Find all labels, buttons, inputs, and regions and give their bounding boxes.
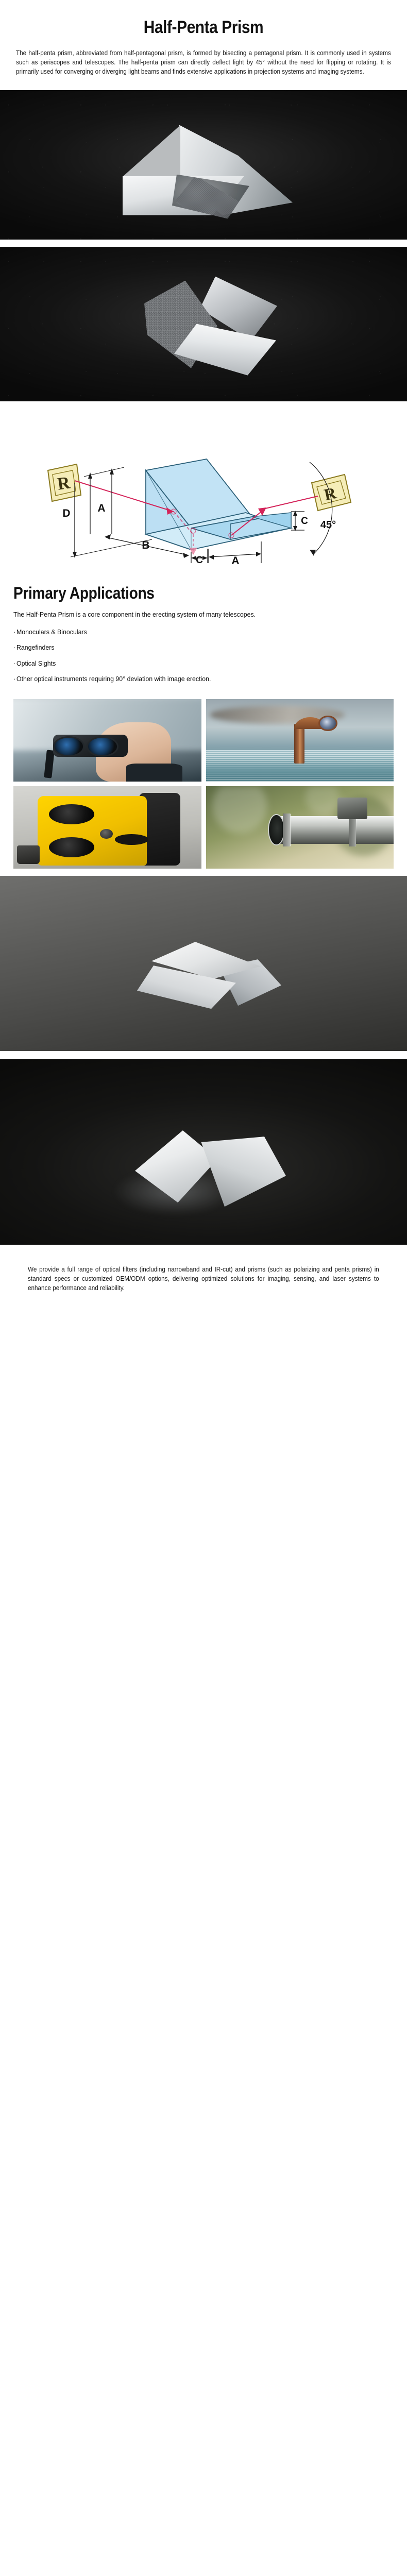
list-item-label: Other optical instruments requiring 90° … (16, 675, 211, 683)
bullet-marker: · (13, 659, 15, 667)
dimension-label-c-bottom: C (196, 555, 203, 564)
list-item: ·Optical Sights (13, 659, 394, 668)
prism-render-side (144, 277, 276, 375)
rangefinder-badge (115, 834, 149, 845)
half-penta-prism-photo-angled (0, 90, 407, 240)
binoculars-photo (13, 699, 201, 782)
list-item-label: Optical Sights (16, 659, 56, 667)
bullet-marker: · (13, 628, 15, 636)
spacer (0, 240, 407, 247)
spacer (0, 566, 407, 584)
page-title: Half-Penta Prism (24, 0, 382, 38)
spacer (0, 690, 407, 699)
list-item-label: Monoculars & Binoculars (16, 628, 87, 636)
list-item: ·Monoculars & Binoculars (13, 628, 394, 636)
image-card: R (312, 474, 351, 511)
prism-photo-grey-backdrop (0, 876, 407, 1051)
spacer (0, 1245, 407, 1265)
bullet-marker: · (13, 675, 15, 683)
spacer (0, 869, 407, 876)
bullet-marker: · (13, 643, 15, 651)
spacer (0, 401, 407, 418)
rangefinder-lens-upper (49, 804, 94, 824)
technical-diagram: R R (0, 418, 407, 566)
dimension-label-c-side: C (301, 516, 308, 527)
object-card: R (48, 464, 81, 501)
dimension-a-vertical (84, 467, 124, 534)
sleeve (126, 764, 182, 782)
scope-mount (337, 798, 367, 819)
half-penta-prism-photo-side (0, 247, 407, 401)
rangefinder-body (38, 796, 146, 865)
applications-heading: Primary Applications (13, 584, 348, 603)
applications-lead: The Half-Penta Prism is a core component… (13, 610, 394, 619)
intro-paragraph: The half-penta prism, abbreviated from h… (16, 49, 391, 77)
list-item-label: Rangefinders (16, 643, 55, 651)
dimension-label-a-vertical: A (97, 502, 105, 514)
dimension-label-b: B (142, 539, 149, 551)
dimension-label-a-bottom: A (231, 555, 239, 564)
prism-render-angled (123, 125, 293, 215)
footer-paragraph: We provide a full range of optical filte… (28, 1265, 379, 1293)
lens-cap (17, 845, 40, 863)
rangefinder-photo (13, 786, 201, 869)
riflescope-photo (206, 786, 394, 869)
application-photo-grid (0, 699, 407, 869)
dimension-d (71, 483, 152, 558)
prism-render-grey (129, 942, 283, 1009)
rangefinder-lens-lower (49, 837, 94, 857)
spacer (0, 77, 407, 90)
applications-section: Primary Applications The Half-Penta Pris… (0, 584, 407, 619)
scope-adjust-ring-front (283, 814, 291, 846)
list-item: ·Other optical instruments requiring 90°… (13, 674, 394, 683)
spacer (0, 1051, 407, 1059)
prism-photo-dark-backdrop (0, 1059, 407, 1245)
angle-label-45: 45° (320, 519, 336, 531)
dimension-label-d: D (62, 507, 70, 519)
binocular-strap (44, 750, 54, 779)
scope-objective-lens (268, 814, 285, 845)
periscope-tube (294, 724, 304, 764)
intro-section: The half-penta prism, abbreviated from h… (0, 49, 407, 77)
binocular-lens-right (87, 736, 118, 757)
periscope-photo (206, 699, 394, 782)
prism-render-dark (135, 1121, 290, 1209)
binocular-lens-left (53, 736, 85, 757)
periscope-lens (318, 716, 337, 731)
footer-section: We provide a full range of optical filte… (0, 1265, 407, 1293)
prism-solid (146, 459, 291, 550)
applications-list: ·Monoculars & Binoculars ·Rangefinders ·… (0, 628, 407, 683)
prism-face-top (123, 125, 180, 177)
prism-dimension-drawing: R R (23, 425, 384, 564)
list-item: ·Rangefinders (13, 643, 394, 652)
